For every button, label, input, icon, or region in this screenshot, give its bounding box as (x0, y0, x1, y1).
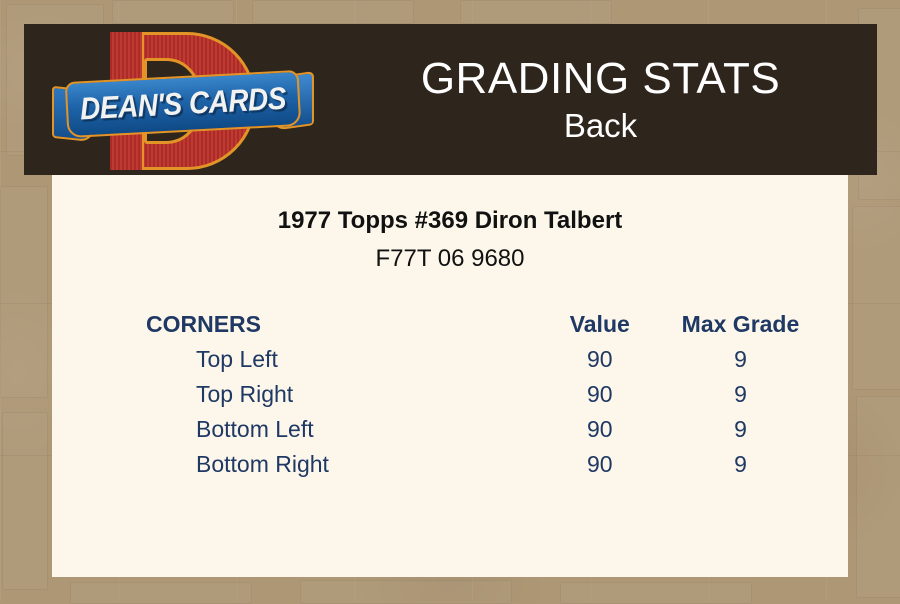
background-card-shape (2, 412, 48, 590)
background-card-shape (560, 582, 752, 604)
row-label: Top Right (112, 377, 531, 412)
column-header-corners: CORNERS (112, 307, 531, 342)
row-value: 90 (531, 412, 669, 447)
background-card-shape (852, 206, 900, 390)
row-max-grade: 9 (669, 342, 812, 377)
card-title: 1977 Topps #369 Diron Talbert (52, 207, 848, 235)
ribbon-center: DEAN'S CARDS (65, 70, 302, 138)
column-header-value: Value (531, 307, 669, 342)
page-title: GRADING STATS (421, 53, 780, 105)
row-value: 90 (531, 342, 669, 377)
background-card-shape (112, 0, 234, 24)
card-serial-number: F77T 06 9680 (52, 245, 848, 273)
table-row: Top Right 90 9 (112, 377, 812, 412)
table-header: CORNERS Value Max Grade (112, 307, 812, 342)
logo-wordmark: DEAN'S CARDS (79, 81, 287, 128)
table-body: Top Left 90 9 Top Right 90 9 Bottom Left… (112, 342, 812, 482)
row-label: Bottom Right (112, 447, 531, 482)
content-panel: 1977 Topps #369 Diron Talbert F77T 06 96… (52, 175, 848, 577)
header-title-block: GRADING STATS Back (324, 24, 877, 175)
table-row: Bottom Right 90 9 (112, 447, 812, 482)
row-label: Top Left (112, 342, 531, 377)
row-value: 90 (531, 377, 669, 412)
row-max-grade: 9 (669, 447, 812, 482)
row-max-grade: 9 (669, 412, 812, 447)
row-label: Bottom Left (112, 412, 531, 447)
deans-cards-logo[interactable]: DEAN'S CARDS (50, 30, 316, 172)
page-subtitle: Back (564, 105, 637, 147)
background-card-shape (70, 582, 252, 604)
row-value: 90 (531, 447, 669, 482)
table-header-row: CORNERS Value Max Grade (112, 307, 812, 342)
background-card-shape (856, 396, 900, 598)
grading-stats-table: CORNERS Value Max Grade Top Left 90 9 To… (112, 307, 812, 482)
logo-ribbon-banner-icon: DEAN'S CARDS (50, 72, 316, 144)
row-max-grade: 9 (669, 377, 812, 412)
column-header-max-grade: Max Grade (669, 307, 812, 342)
background-card-shape (460, 0, 612, 24)
header-bar: DEAN'S CARDS GRADING STATS Back (24, 24, 877, 175)
background-card-shape (252, 0, 414, 24)
background-card-shape (300, 580, 512, 604)
background-card-shape (0, 186, 48, 398)
table-row: Bottom Left 90 9 (112, 412, 812, 447)
table-row: Top Left 90 9 (112, 342, 812, 377)
